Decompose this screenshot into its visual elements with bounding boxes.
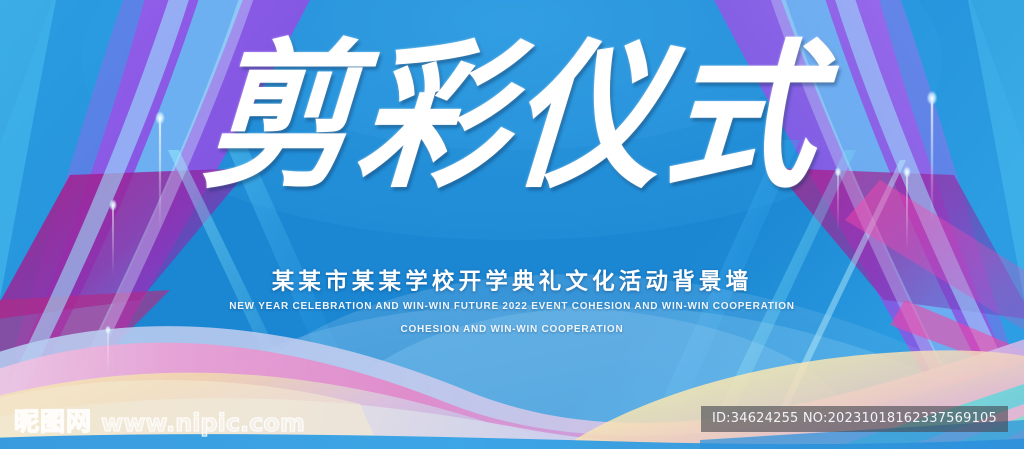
watermark-site-url: www.nipic.com — [101, 411, 305, 435]
image-id-badge: ID:34624255 NO:20231018162337569105 — [701, 406, 1008, 432]
site-watermark: 昵图网 www.nipic.com — [14, 410, 305, 435]
watermark-site-name: 昵图网 — [14, 410, 92, 435]
banner-canvas: 剪彩仪式 某某市某某学校开学典礼文化活动背景墙 NEW YEAR CELEBRA… — [0, 0, 1024, 449]
background-artwork — [0, 0, 1024, 449]
